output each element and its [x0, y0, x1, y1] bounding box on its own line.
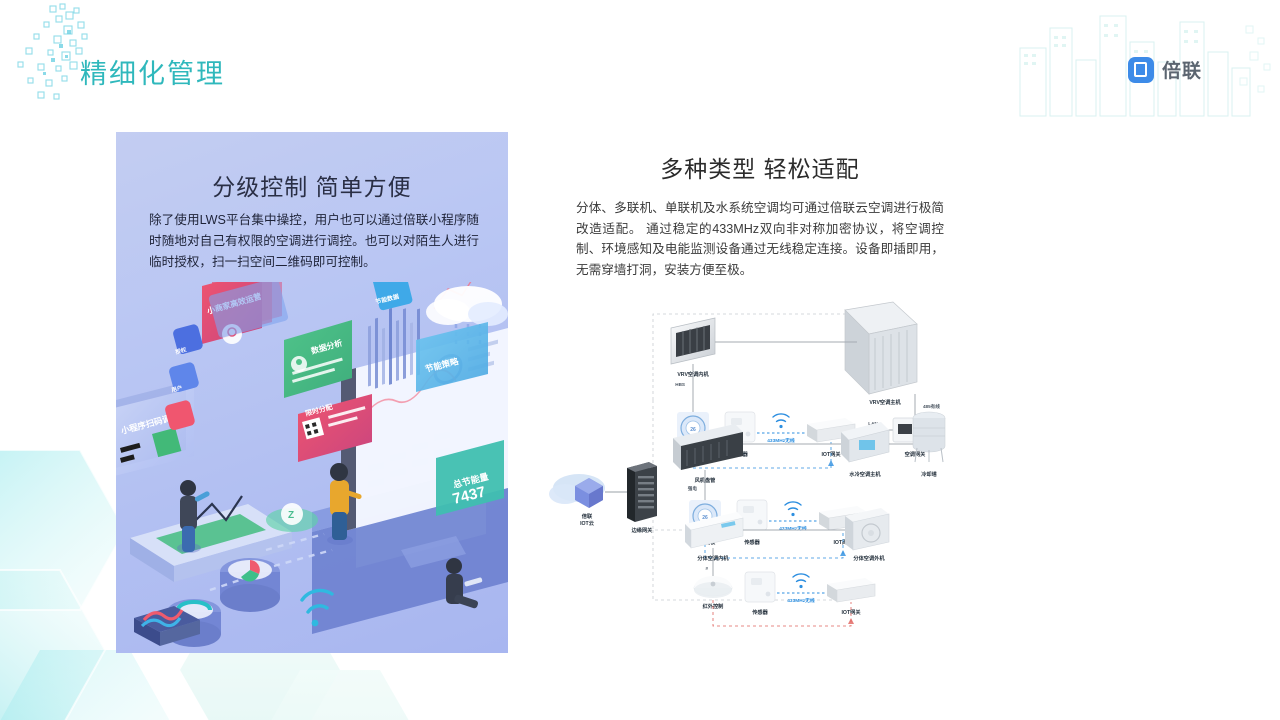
- arrow-row3: [848, 618, 854, 624]
- isometric-illustration: 总节能量 7437 数据分析: [116, 282, 508, 653]
- slide-header: 精细化管理 倍联: [0, 0, 1280, 120]
- vrv-outdoor-label: VRV空调主机: [869, 398, 901, 406]
- cooling-tower-label: 冷却塔: [921, 470, 937, 478]
- server-rack-icon: [627, 462, 657, 522]
- topology-diagram: 倍联 IOT云 边缘网关 VRV空调内机: [545, 300, 975, 645]
- ir-emitter-icon: [694, 576, 732, 598]
- wifi-icon-row1: [773, 414, 789, 428]
- link-433-row2-label: 433MHz无线: [779, 525, 807, 532]
- link-433-row3-label: 433MHz无线: [787, 597, 815, 604]
- link-power-label: 强电: [688, 485, 698, 492]
- edge-gateway-label: 边缘网关: [631, 526, 654, 534]
- cloud-label-line1: 倍联: [582, 512, 593, 520]
- left-card-body: 除了使用LWS平台集中操控，用户也可以通过倍联小程序随时随地对自己有权限的空调进…: [149, 210, 479, 273]
- sensor-2-label: 传感器: [743, 538, 760, 546]
- page-title: 精细化管理: [80, 52, 225, 91]
- illustration-scan-card: 小程序扫码调控: [116, 382, 194, 476]
- square-logo-icon: [1128, 57, 1154, 83]
- svg-text:26: 26: [690, 427, 696, 433]
- arrow-row1: [828, 460, 834, 466]
- water-chiller-label: 水冷空调主机: [849, 470, 881, 478]
- chiller-unit-icon: [845, 302, 917, 394]
- sensor-3-label: 传感器: [751, 608, 768, 616]
- split-outdoor-label: 分体空调外机: [853, 554, 885, 562]
- left-feature-card: 分级控制 简单方便 除了使用LWS平台集中操控，用户也可以通过倍联小程序随时随地…: [116, 132, 508, 653]
- link-485-label: 485有线: [923, 403, 940, 410]
- iot-gateway-1-label: IOT网关: [821, 450, 841, 458]
- brand-logo: 倍联: [1128, 56, 1202, 83]
- illustration-app-tiles: 授权 用户: [164, 282, 289, 431]
- iot-gateway-3-label: IOT网关: [841, 608, 861, 616]
- brand-name: 倍联: [1162, 56, 1202, 83]
- cloud-label-line2: IOT云: [580, 520, 594, 527]
- wifi-icon-row3: [793, 574, 809, 588]
- dashed-return-row3: [713, 600, 851, 626]
- cassette-ac-icon: [671, 318, 715, 364]
- arrow-row2: [840, 550, 846, 556]
- wifi-icon-row2: [785, 502, 801, 516]
- svg-text:Z: Z: [288, 510, 294, 521]
- link-433-row1-label: 433MHz无线: [767, 437, 795, 444]
- link-hbs-label: HBS: [675, 382, 685, 387]
- sensor-box-icon-3: [745, 572, 775, 602]
- right-feature-column: 多种类型 轻松适配 分体、多联机、单联机及水系统空调均可通过倍联云空调进行极简改…: [560, 150, 960, 280]
- left-card-heading: 分级控制 简单方便: [116, 168, 508, 202]
- slide-root: 精细化管理 倍联 分级控制 简单方便 除了使用LWS平台集中操控，用户也可以通过…: [0, 0, 1280, 720]
- right-col-body: 分体、多联机、单联机及水系统空调均可通过倍联云空调进行极简改造适配。 通过稳定的…: [576, 198, 944, 280]
- gateway-icon-3: [827, 578, 875, 602]
- link-ir-marker: #: [705, 566, 708, 571]
- cloud-icon: [549, 474, 605, 508]
- right-col-heading: 多种类型 轻松适配: [560, 150, 960, 184]
